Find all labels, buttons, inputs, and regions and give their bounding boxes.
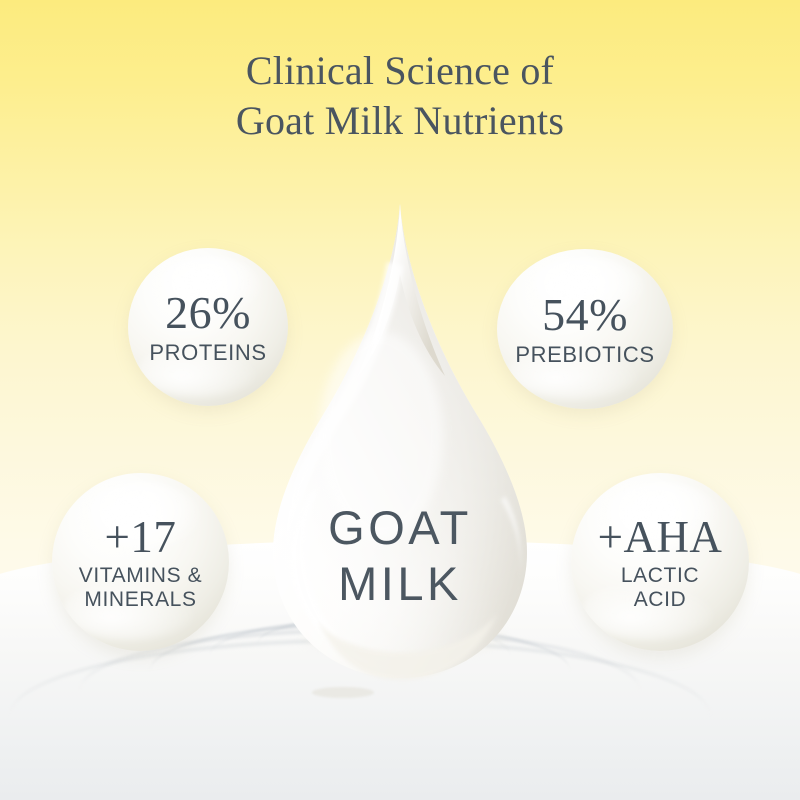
- droplet-label-line-1: GOAT: [255, 500, 545, 556]
- stat-label-vitamins-line-1: VITAMINS &: [79, 564, 202, 588]
- stat-label-vitamins: VITAMINS & MINERALS: [79, 564, 202, 612]
- page-title-line-1: Clinical Science of: [0, 46, 800, 96]
- stat-label-aha: LACTIC ACID: [621, 564, 699, 612]
- stat-value-aha: +AHA: [598, 513, 723, 561]
- stat-label-prebiotics: PREBIOTICS: [515, 342, 654, 367]
- stat-bubble-proteins: 26% PROTEINS: [128, 248, 288, 406]
- stat-label-prebiotics-line-1: PREBIOTICS: [515, 342, 654, 367]
- stat-value-vitamins: +17: [105, 513, 177, 561]
- stat-bubble-aha: +AHA LACTIC ACID: [571, 473, 749, 651]
- stat-label-vitamins-line-2: MINERALS: [79, 588, 202, 612]
- stat-label-aha-line-2: ACID: [621, 588, 699, 612]
- stat-bubble-vitamins: +17 VITAMINS & MINERALS: [52, 473, 229, 651]
- stat-value-proteins: 26%: [165, 289, 251, 337]
- stat-label-proteins-line-1: PROTEINS: [149, 340, 266, 365]
- page-title-line-2: Goat Milk Nutrients: [0, 96, 800, 146]
- droplet-label: GOAT MILK: [255, 500, 545, 612]
- stat-bubble-prebiotics: 54% PREBIOTICS: [497, 249, 673, 409]
- page-title: Clinical Science of Goat Milk Nutrients: [0, 46, 800, 146]
- droplet-label-line-2: MILK: [255, 556, 545, 612]
- stat-label-proteins: PROTEINS: [149, 340, 266, 365]
- stat-label-aha-line-1: LACTIC: [621, 564, 699, 588]
- stat-value-prebiotics: 54%: [542, 291, 628, 339]
- goat-milk-infographic: Clinical Science of Goat Milk Nutrients: [0, 0, 800, 800]
